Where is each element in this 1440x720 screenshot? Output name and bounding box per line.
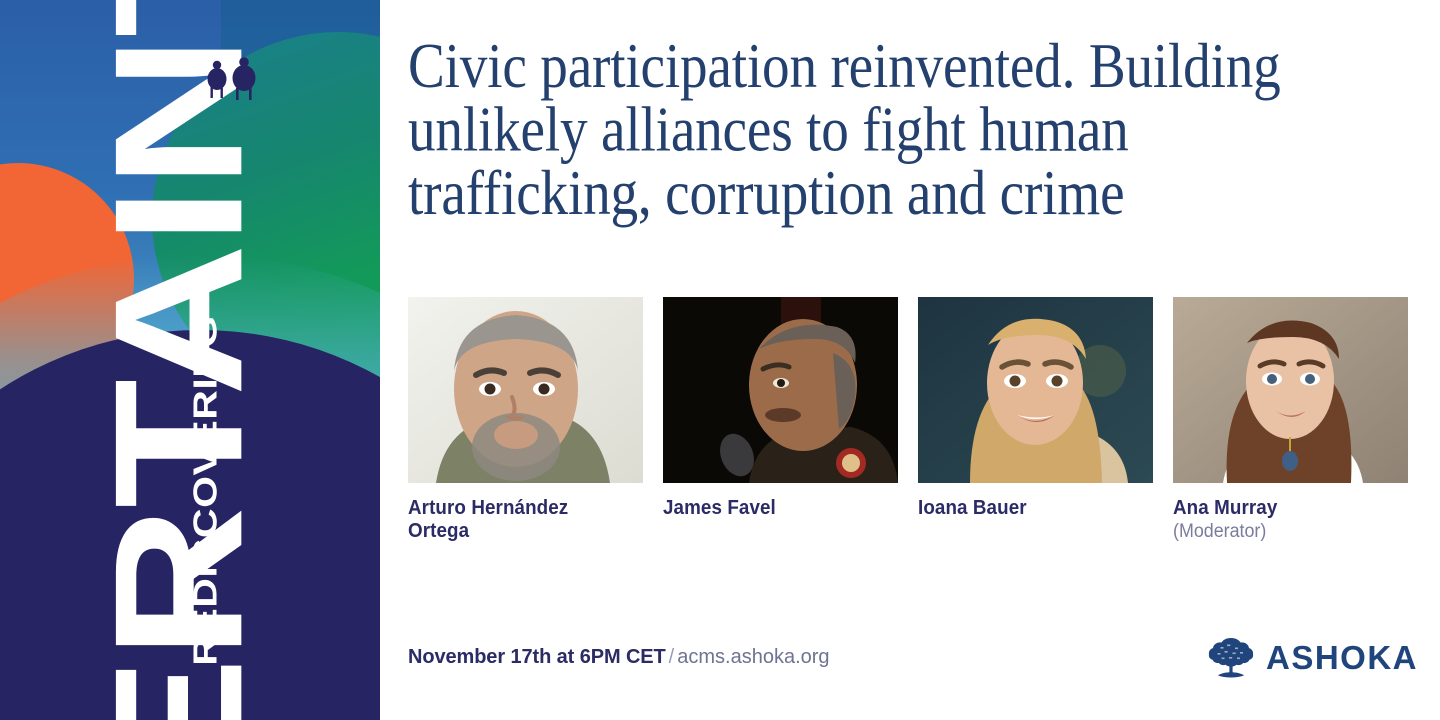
speaker-card: James Favel — [663, 297, 898, 544]
avatar — [918, 297, 1153, 483]
speaker-name: Ana Murray — [1173, 497, 1394, 520]
speaker-name: James Favel — [663, 497, 884, 520]
speaker-card: Arturo Hernández Ortega — [408, 297, 643, 544]
brand-panel: CERTAINTY REDISCOVERING Ashoka Changemak… — [0, 0, 380, 720]
speaker-name: Arturo Hernández Ortega — [408, 497, 629, 543]
speaker-card: Ioana Bauer — [918, 297, 1153, 544]
rediscovering-kicker-text: REDISCOVERING — [186, 315, 225, 666]
event-poster: CERTAINTY REDISCOVERING Ashoka Changemak… — [0, 0, 1440, 720]
page-title: Civic participation reinvented. Building… — [408, 34, 1328, 225]
content-area: Civic participation reinvented. Building… — [380, 0, 1440, 720]
event-date: November 17th at 6PM CET — [408, 646, 666, 668]
ashoka-logo[interactable]: ASHOKA — [1208, 636, 1418, 678]
tree-icon — [1208, 636, 1254, 678]
avatar — [1173, 297, 1408, 483]
avatar — [408, 297, 643, 483]
seated-figures-icon — [204, 56, 264, 102]
footer-separator: / — [666, 646, 678, 668]
footer: November 17th at 6PM CET/acms.ashoka.org — [408, 636, 1418, 678]
speaker-role: (Moderator) — [1173, 520, 1394, 544]
event-url[interactable]: acms.ashoka.org — [677, 646, 829, 668]
summit-name: Ashoka Changemaker Summit — [274, 185, 380, 655]
speaker-card: Ana Murray (Moderator) — [1173, 297, 1408, 544]
avatar — [663, 297, 898, 483]
speaker-name: Ioana Bauer — [918, 497, 1139, 520]
ashoka-wordmark: ASHOKA — [1266, 641, 1418, 674]
event-details: November 17th at 6PM CET/acms.ashoka.org — [408, 646, 830, 669]
speaker-list: Arturo Hernández Ortega — [408, 297, 1418, 544]
